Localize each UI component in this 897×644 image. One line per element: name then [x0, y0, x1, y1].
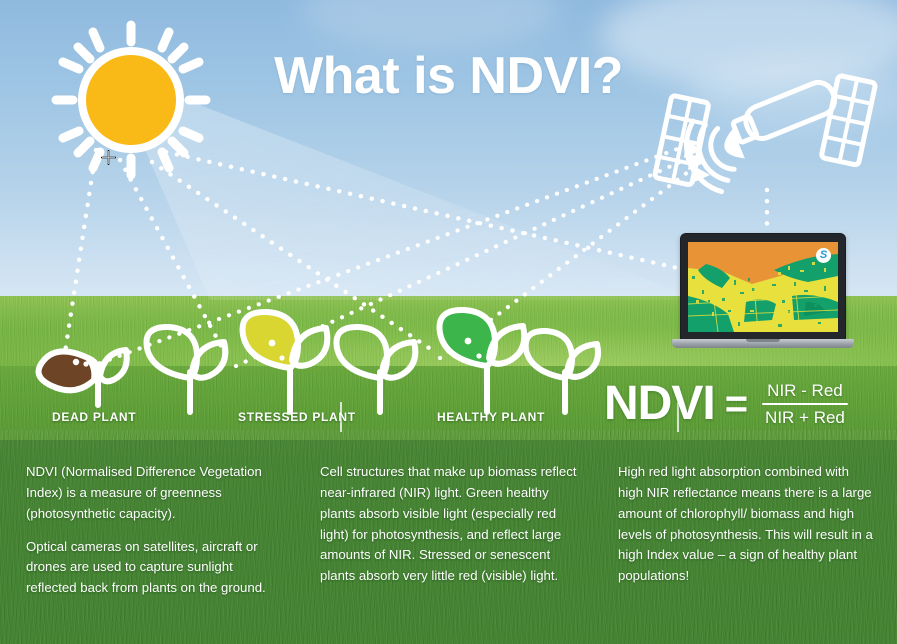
column1-paragraph-2: Optical cameras on satellites, aircraft … — [26, 537, 270, 600]
plant-label-healthy: HEALTHY PLANT — [437, 410, 545, 424]
column3-paragraph-1: High red light absorption combined with … — [618, 462, 873, 587]
dead-plant-icon — [39, 350, 127, 405]
sentinel-s-logo-icon: S — [816, 248, 831, 263]
satellite-icon — [628, 23, 897, 238]
explanation-column-3: High red light absorption combined with … — [600, 452, 897, 644]
formula-equals-sign: = — [725, 384, 748, 424]
plant-label-dead: DEAD PLANT — [52, 410, 136, 424]
column2-paragraph-1: Cell structures that make up biomass ref… — [320, 462, 578, 587]
sun-icon — [56, 25, 206, 175]
laptop-notch — [746, 339, 780, 342]
formula-ndvi-label: NDVI — [604, 380, 715, 428]
column1-paragraph-1: NDVI (Normalised Difference Vegetation I… — [26, 462, 270, 525]
laptop-icon: S — [672, 233, 854, 358]
formula-fraction: NIR - Red NIR + Red — [762, 380, 848, 429]
formula-fraction-bar — [762, 403, 848, 405]
healthy-plant-icon — [440, 310, 525, 412]
plant-label-stressed: STRESSED PLANT — [238, 410, 356, 424]
laptop-lid: S — [680, 233, 846, 340]
plant-outline-icon — [336, 327, 415, 412]
formula-denominator: NIR + Red — [762, 407, 848, 428]
explanation-column-2: Cell structures that make up biomass ref… — [300, 452, 600, 644]
laptop-screen: S — [688, 242, 838, 332]
formula-numerator: NIR - Red — [764, 380, 846, 401]
ndvi-formula: NDVI = NIR - Red NIR + Red — [604, 380, 848, 429]
stressed-plant-icon — [243, 312, 328, 412]
crosshair-cursor-icon — [101, 150, 116, 165]
explanation-column-1: NDVI (Normalised Difference Vegetation I… — [0, 452, 300, 644]
explanation-columns: NDVI (Normalised Difference Vegetation I… — [0, 452, 897, 644]
plant-outline-icon — [526, 331, 598, 412]
ndvi-infographic-poster: What is NDVI? .ray{stroke:#ffffff;stroke… — [0, 0, 897, 644]
